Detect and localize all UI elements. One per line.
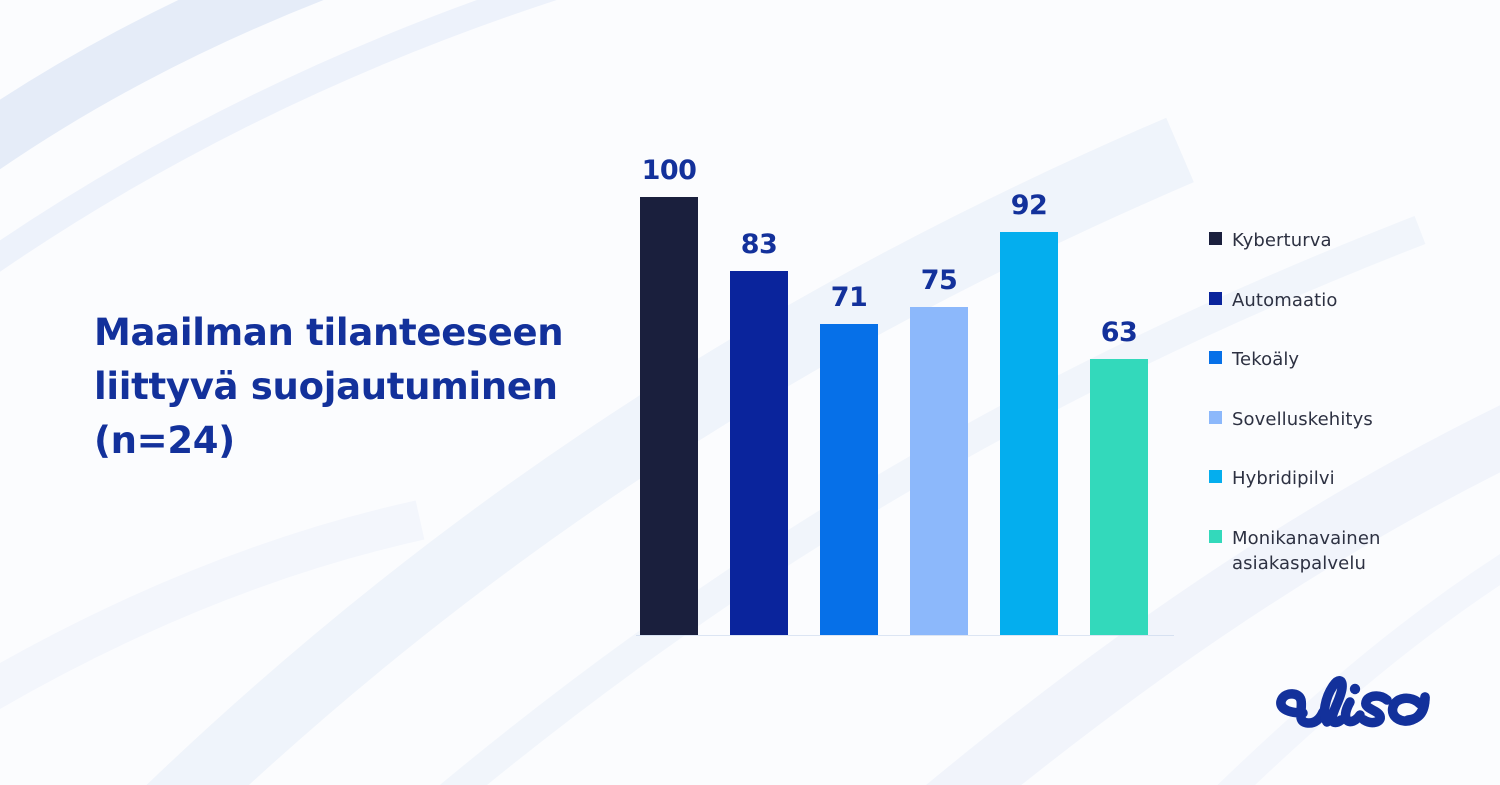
legend-swatch-icon xyxy=(1209,411,1222,424)
bar-rect[interactable] xyxy=(1090,359,1148,635)
legend-item[interactable]: Hybridipilvi xyxy=(1209,466,1479,492)
bar-value-label: 100 xyxy=(642,157,697,184)
bar-value-label: 63 xyxy=(1101,319,1138,346)
legend-item-label: Tekoäly xyxy=(1232,347,1299,373)
legend-item[interactable]: Monikanavainen asiakaspalvelu xyxy=(1209,526,1479,577)
bar-rect[interactable] xyxy=(820,324,878,635)
legend-item-label: Hybridipilvi xyxy=(1232,466,1335,492)
bar-value-label: 71 xyxy=(831,284,868,311)
legend-item[interactable]: Sovelluskehitys xyxy=(1209,407,1479,433)
bar-rect[interactable] xyxy=(910,307,968,636)
elisa-wordmark-logo xyxy=(1270,670,1450,742)
chart-plot-area: 1008371759263 xyxy=(640,140,1170,635)
legend-swatch-icon xyxy=(1209,351,1222,364)
bar-series: 1008371759263 xyxy=(640,143,1148,635)
bar-column: 63 xyxy=(1090,143,1148,635)
title-block: Maailman tilanteeseen liittyvä suojautum… xyxy=(94,306,564,468)
bar-column: 83 xyxy=(730,143,788,635)
bar-column: 71 xyxy=(820,143,878,635)
bar-column: 100 xyxy=(640,143,698,635)
legend-item-label: Sovelluskehitys xyxy=(1232,407,1373,433)
logo-dot xyxy=(1350,684,1360,694)
legend-swatch-icon xyxy=(1209,292,1222,305)
legend-item[interactable]: Automaatio xyxy=(1209,288,1479,314)
bar-column: 75 xyxy=(910,143,968,635)
bar-rect[interactable] xyxy=(640,197,698,635)
legend-item-label: Kyberturva xyxy=(1232,228,1332,254)
legend-swatch-icon xyxy=(1209,232,1222,245)
legend-item-label: Automaatio xyxy=(1232,288,1337,314)
legend-swatch-icon xyxy=(1209,470,1222,483)
page-title: Maailman tilanteeseen liittyvä suojautum… xyxy=(94,306,564,468)
legend-item[interactable]: Kyberturva xyxy=(1209,228,1479,254)
bar-value-label: 75 xyxy=(921,267,958,294)
chart-legend: KyberturvaAutomaatioTekoälySovelluskehit… xyxy=(1209,228,1479,577)
legend-item[interactable]: Tekoäly xyxy=(1209,347,1479,373)
bar-value-label: 83 xyxy=(741,231,778,258)
bar-value-label: 92 xyxy=(1011,192,1048,219)
legend-item-label: Monikanavainen asiakaspalvelu xyxy=(1232,526,1381,577)
legend-swatch-icon xyxy=(1209,530,1222,543)
bar-rect[interactable] xyxy=(1000,232,1058,635)
bar-rect[interactable] xyxy=(730,271,788,635)
bar-column: 92 xyxy=(1000,143,1058,635)
chart-baseline xyxy=(636,635,1174,636)
infographic-poster: Maailman tilanteeseen liittyvä suojautum… xyxy=(0,0,1500,785)
